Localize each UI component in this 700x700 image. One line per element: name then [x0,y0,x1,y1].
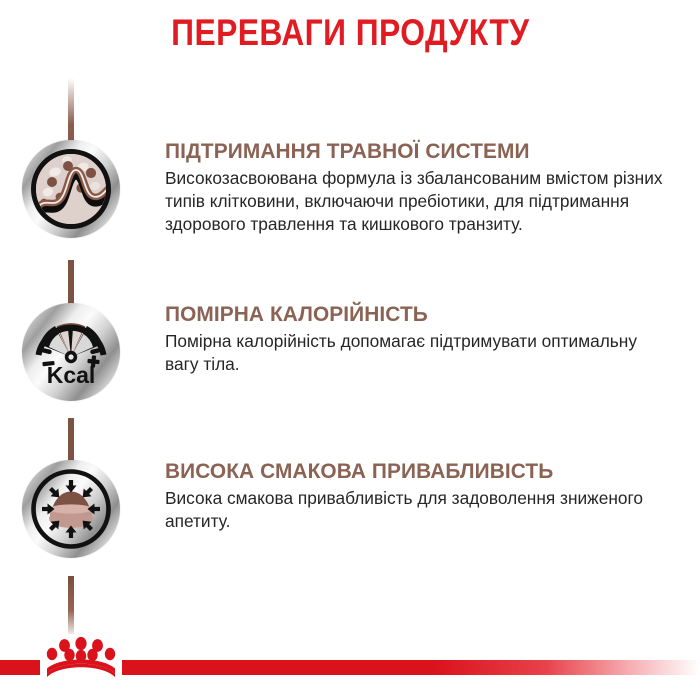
benefit-text-1: ПІДТРИМАННЯ ТРАВНОЇ СИСТЕМИ Високозасвою… [165,140,670,236]
digestive-wave-icon [22,140,120,238]
kcal-gauge-icon: Kcal [22,303,120,401]
benefit-body-3: Висока смакова привабливість для задовол… [165,487,670,533]
food-bowl-arrows-icon [22,460,120,558]
timeline-segment-bottom [68,576,74,638]
page-title: ПЕРЕВАГИ ПРОДУКТУ [171,12,529,54]
benefit-body-1: Високозасвоювана формула із збалансовани… [165,167,670,236]
product-benefits-page: ПЕРЕВАГИ ПРОДУКТУ [0,0,700,700]
royal-canin-crown-logo [40,634,122,680]
benefit-heading-1: ПІДТРИМАННЯ ТРАВНОЇ СИСТЕМИ [165,140,655,163]
page-title-wrap: ПЕРЕВАГИ ПРОДУКТУ [0,12,700,54]
benefit-icon-container-2: Kcal [22,303,120,401]
benefit-heading-2: ПОМІРНА КАЛОРІЙНІСТЬ [165,303,655,326]
kcal-gauge-label: Kcal [47,362,96,388]
benefit-icon-container-1 [22,140,120,238]
benefit-text-3: ВИСОКА СМАКОВА ПРИВАБЛИВІСТЬ Висока смак… [165,460,670,533]
benefit-heading-3: ВИСОКА СМАКОВА ПРИВАБЛИВІСТЬ [165,460,655,483]
benefit-icon-container-3 [22,460,120,558]
benefit-text-2: ПОМІРНА КАЛОРІЙНІСТЬ Помірна калорійніст… [165,303,670,376]
benefit-body-2: Помірна калорійність допомагає підтримув… [165,330,670,376]
